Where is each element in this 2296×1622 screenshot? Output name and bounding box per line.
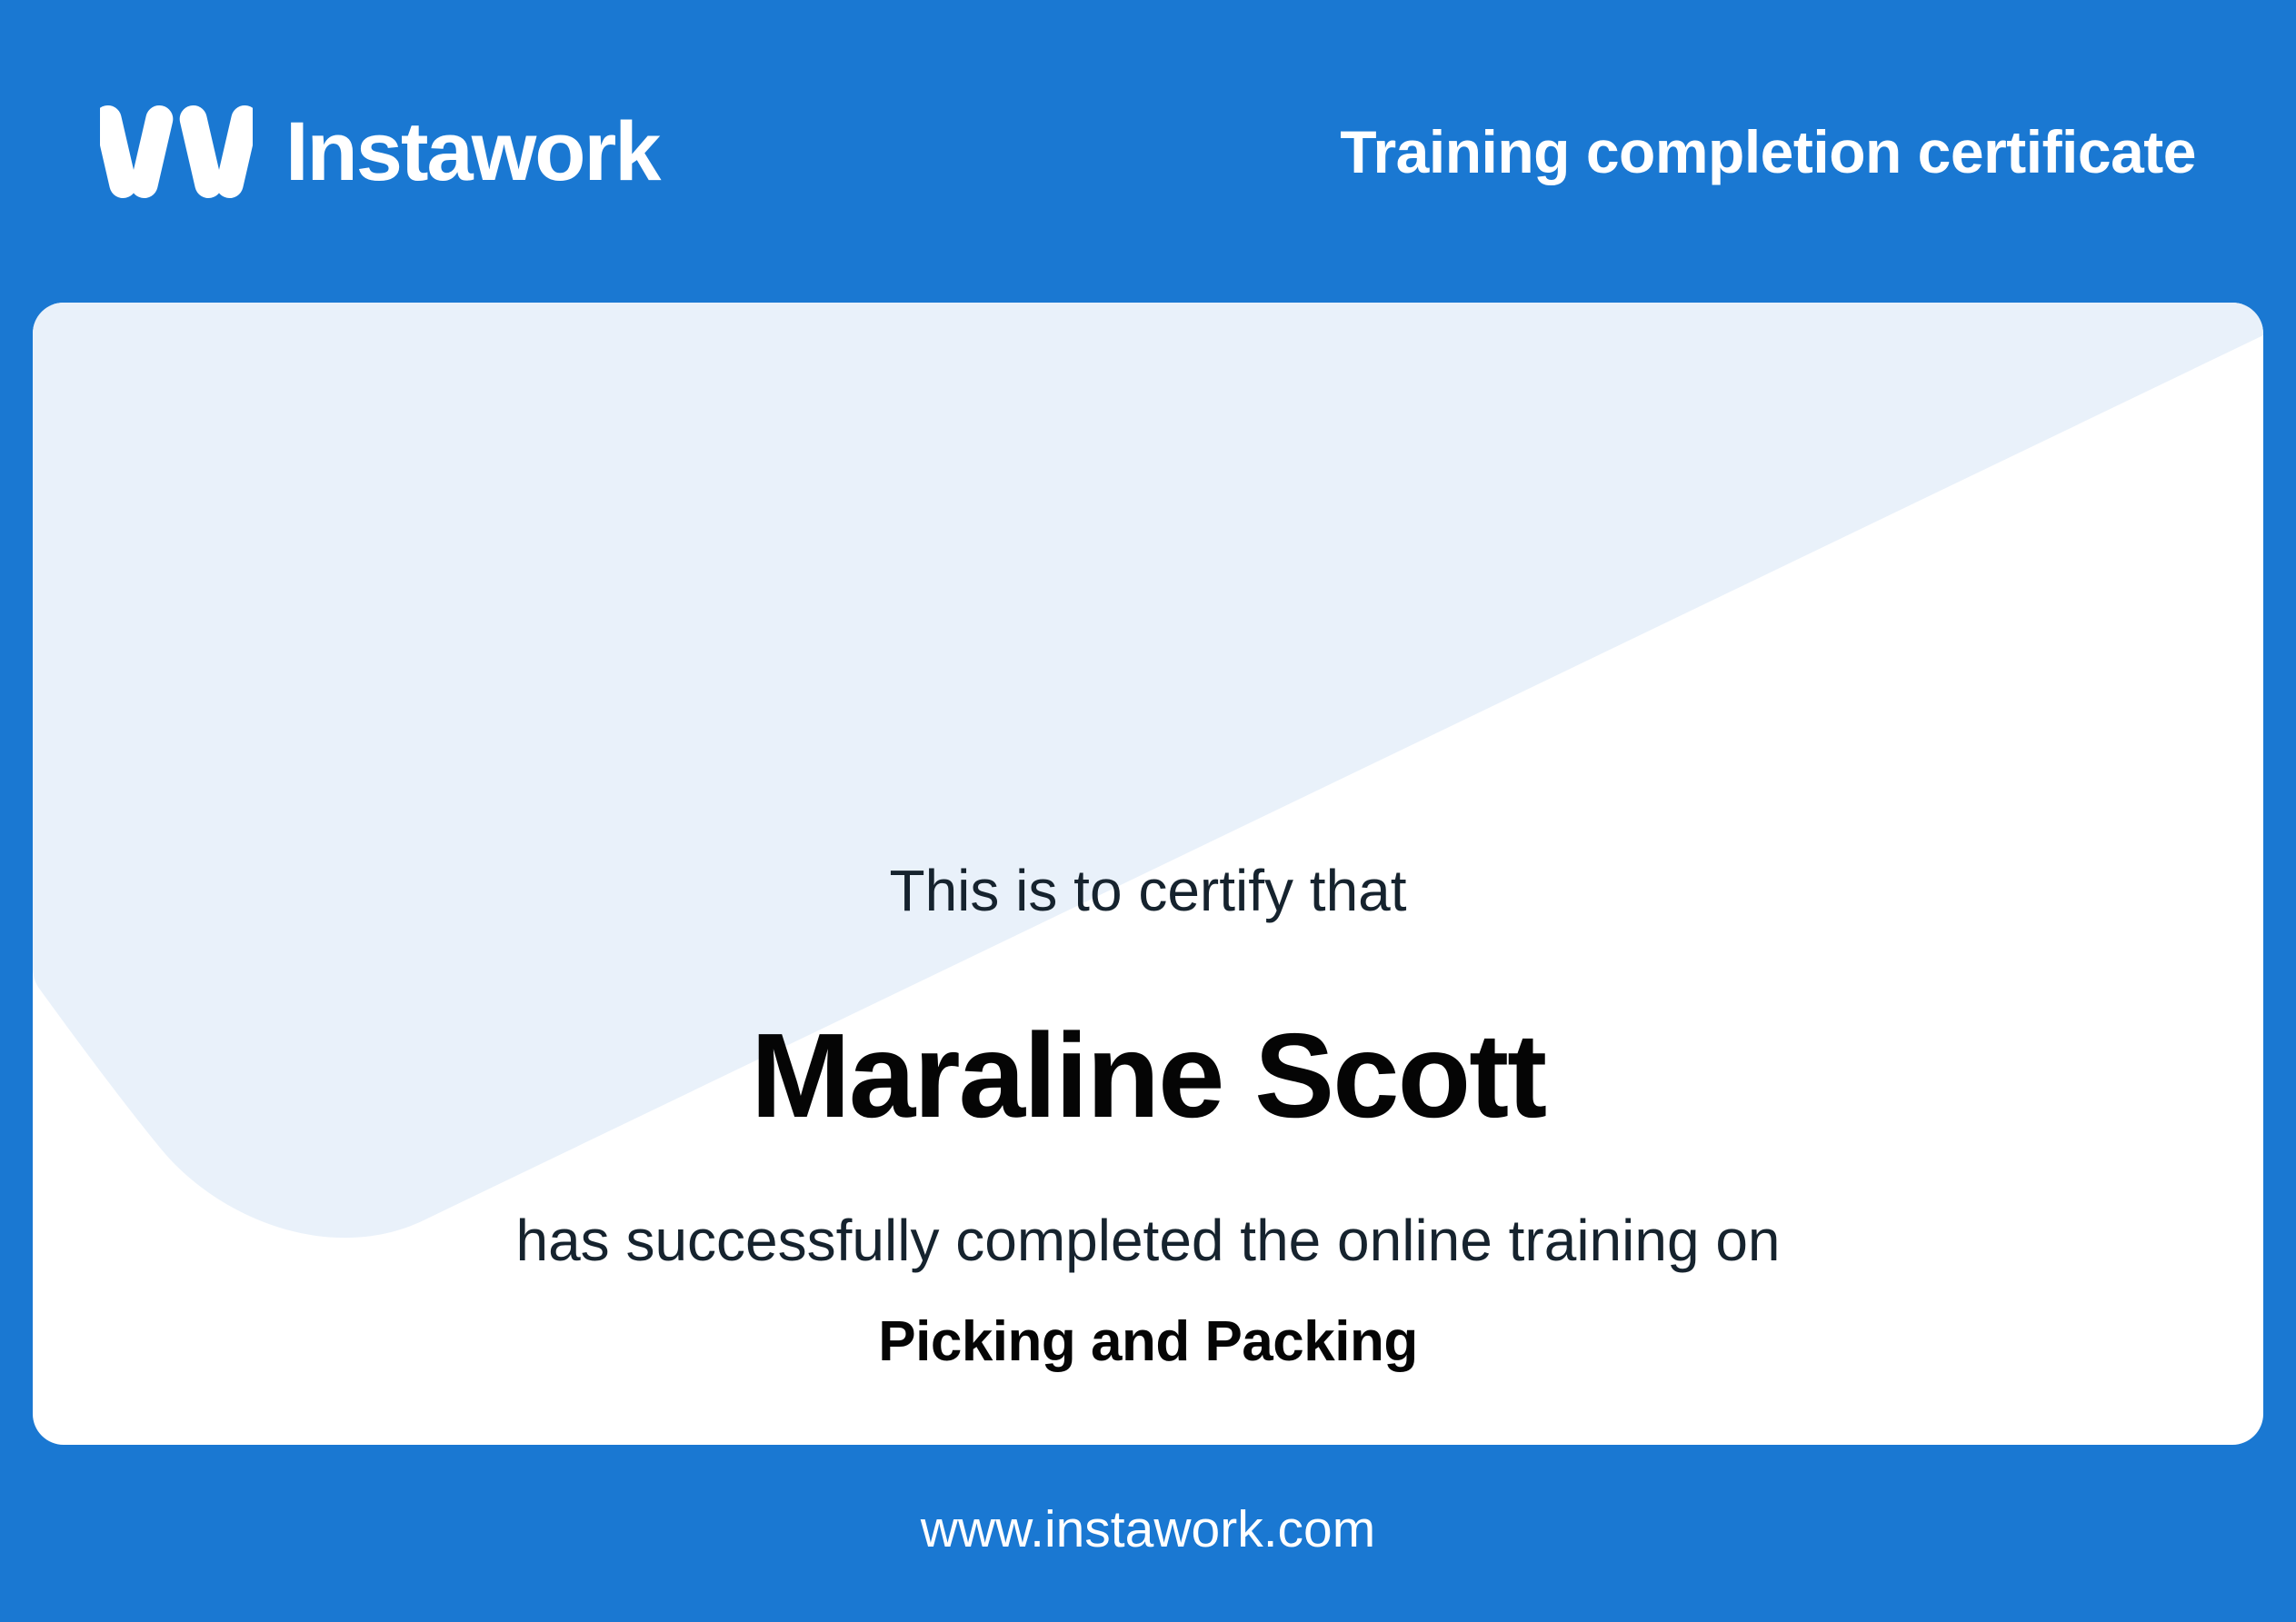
instawork-w-logo-icon <box>100 101 253 203</box>
page-header: Instawork Training completion certificat… <box>0 0 2296 303</box>
certify-line: This is to certify that <box>33 861 2263 920</box>
header-title: Training completion certificate <box>1340 122 2196 182</box>
course-name: Picking and Packing <box>33 1314 2263 1370</box>
brand-name: Instawork <box>285 110 659 194</box>
recipient-name: Maraline Scott <box>33 1007 2263 1145</box>
certificate-card: This is to certify that Maraline Scott h… <box>33 303 2263 1445</box>
completed-line: has successfully completed the online tr… <box>33 1211 2263 1269</box>
website-url[interactable]: www.instawork.com <box>0 1504 2296 1556</box>
certificate-page: Instawork Training completion certificat… <box>0 0 2296 1622</box>
certificate-body: This is to certify that Maraline Scott h… <box>33 303 2263 1445</box>
brand-lockup: Instawork <box>100 101 659 203</box>
